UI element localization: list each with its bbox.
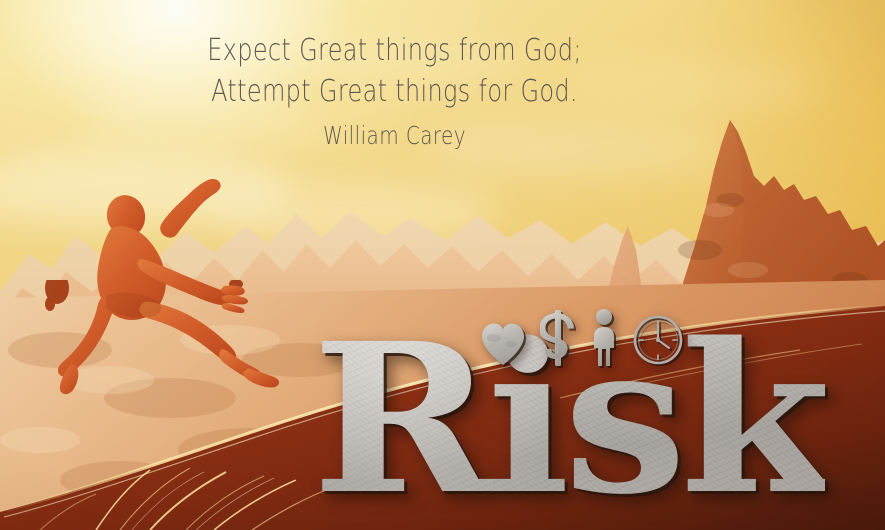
poster-canvas: Expect Great things from God; Attempt Gr… [0,0,885,530]
heart-icon [480,322,526,366]
quote-line-1: Expect Great things from God; [79,30,710,71]
dollar-icon [540,310,576,366]
risk-wordmark-group: Risk [312,298,852,508]
risk-icon-row [480,304,684,366]
quote-block: Expect Great things from God; Attempt Gr… [0,30,885,151]
jumping-man-silhouette [58,168,288,400]
person-icon [590,308,618,366]
quote-line-2: Attempt Great things for God. [79,71,710,112]
clock-icon [632,314,684,366]
quote-attribution: William Carey [79,121,710,151]
